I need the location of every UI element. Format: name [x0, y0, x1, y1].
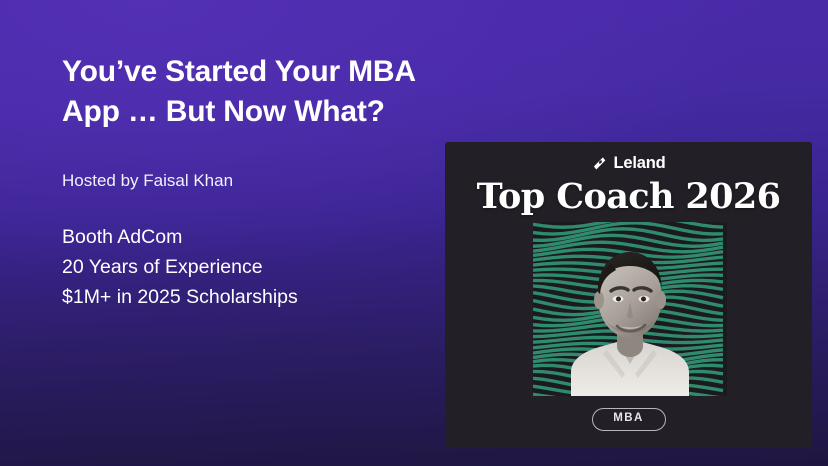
award-card: Leland Top Coach 2026: [445, 142, 812, 448]
portrait-frame: [533, 222, 727, 396]
credential-item: 20 Years of Experience: [62, 253, 432, 283]
leland-diamond-icon: [592, 156, 607, 171]
brand-row: Leland: [445, 155, 812, 172]
award-headline: Top Coach 2026: [445, 178, 812, 217]
status-badge: MBA: [592, 408, 666, 431]
credential-item: Booth AdCom: [62, 223, 432, 253]
coach-headshot: [567, 234, 693, 396]
page-title: You’ve Started Your MBA App … But Now Wh…: [62, 52, 432, 131]
credential-item: $1M+ in 2025 Scholarships: [62, 283, 432, 313]
host-line: Hosted by Faisal Khan: [62, 170, 432, 192]
presentation-slide: You’ve Started Your MBA App … But Now Wh…: [0, 0, 828, 466]
credentials-list: Booth AdCom 20 Years of Experience $1M+ …: [62, 223, 432, 312]
brand-name: Leland: [614, 155, 666, 172]
slide-text-column: You’ve Started Your MBA App … But Now Wh…: [62, 52, 432, 312]
